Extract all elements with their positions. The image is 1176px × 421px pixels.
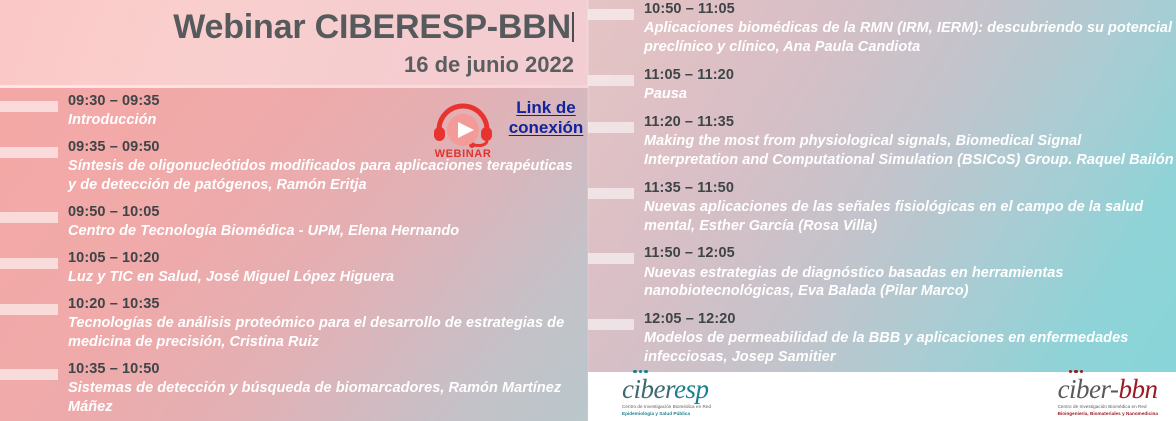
agenda-item-body: 09:35 – 09:50Síntesis de oligonucleótido…	[58, 138, 580, 195]
agenda-item-time: 09:30 – 09:35	[68, 92, 580, 110]
agenda-bullet-marker	[588, 75, 634, 86]
logo-ciber-bbn-sub1: Centro de Investigación Biomédica en Red	[1058, 404, 1158, 411]
agenda-item-description: Pausa	[644, 85, 1176, 104]
logo-ciberesp-wordmark: ciberesp	[622, 376, 708, 403]
event-date: 16 de junio 2022	[404, 52, 574, 78]
agenda-item: 10:50 – 11:05Aplicaciones biomédicas de …	[588, 0, 1176, 57]
agenda-item-time: 11:35 – 11:50	[644, 179, 1176, 197]
agenda-item-description: Centro de Tecnología Biomédica - UPM, El…	[68, 222, 580, 241]
agenda-item-time: 11:20 – 11:35	[644, 113, 1176, 131]
agenda-bullet-marker	[0, 147, 58, 158]
agenda-item-body: 11:50 – 12:05Nuevas estrategias de diagn…	[634, 244, 1176, 301]
webinar-poster: Webinar CIBERESP-BBN 16 de junio 2022 WE…	[0, 0, 1176, 421]
agenda-list-right: 10:50 – 11:05Aplicaciones biomédicas de …	[588, 0, 1176, 372]
agenda-item-body: 12:05 – 12:20Modelos de permeabilidad de…	[634, 310, 1176, 367]
agenda-item-time: 09:50 – 10:05	[68, 203, 580, 221]
agenda-item: 10:05 – 10:20Luz y TIC en Salud, José Mi…	[0, 249, 580, 287]
agenda-item-body: 10:50 – 11:05Aplicaciones biomédicas de …	[634, 0, 1176, 57]
logo-ciber-bbn-sub2: Bioingeniería, Biomateriales y Nanomedic…	[1058, 411, 1158, 418]
agenda-item-body: 11:35 – 11:50Nuevas aplicaciones de las …	[634, 179, 1176, 236]
agenda-item: 09:30 – 09:35Introducción	[0, 92, 580, 130]
logo-ciber-bbn-subtitle: Centro de Investigación Biomédica en Red…	[1058, 404, 1158, 418]
page-title-text: Webinar CIBERESP-BBN	[173, 8, 571, 46]
agenda-item-time: 11:50 – 12:05	[644, 244, 1176, 262]
logo-dots-icon	[633, 370, 648, 374]
agenda-item: 10:20 – 10:35Tecnologías de análisis pro…	[0, 295, 580, 352]
logo-ciberesp-part2: esp	[674, 374, 709, 404]
agenda-bullet-marker	[0, 101, 58, 112]
poster-header: Webinar CIBERESP-BBN 16 de junio 2022	[0, 0, 588, 88]
logo-ciberesp-sub1: Centro de Investigación Biomédica en Red	[622, 404, 711, 411]
footer-logos: ciberesp Centro de Investigación Biomédi…	[588, 372, 1176, 421]
agenda-item-time: 10:50 – 11:05	[644, 0, 1176, 18]
logo-ciberesp-part1: ciber	[622, 374, 674, 404]
agenda-item: 09:35 – 09:50Síntesis de oligonucleótido…	[0, 138, 580, 195]
logo-ciberesp-sub2: Epidemiología y Salud Pública	[622, 411, 711, 418]
logo-ciberesp-subtitle: Centro de Investigación Biomédica en Red…	[622, 404, 711, 418]
agenda-item-description: Luz y TIC en Salud, José Miguel López Hi…	[68, 268, 580, 287]
agenda-item-description: Aplicaciones biomédicas de la RMN (IRM, …	[644, 19, 1176, 57]
agenda-bullet-marker	[588, 253, 634, 264]
agenda-item-time: 11:05 – 11:20	[644, 66, 1176, 84]
agenda-item-body: 11:05 – 11:20Pausa	[634, 66, 1176, 104]
agenda-item-description: Tecnologías de análisis proteómico para …	[68, 314, 580, 352]
logo-ciber-bbn: ciber-bbn Centro de Investigación Bioméd…	[1058, 376, 1158, 418]
agenda-item-time: 10:20 – 10:35	[68, 295, 580, 313]
agenda-item-description: Nuevas estrategias de diagnóstico basada…	[644, 264, 1176, 302]
agenda-bullet-marker	[588, 9, 634, 20]
agenda-item: 11:50 – 12:05Nuevas estrategias de diagn…	[588, 244, 1176, 301]
agenda-item-description: Making the most from physiological signa…	[644, 132, 1176, 170]
logo-ciberesp: ciberesp Centro de Investigación Biomédi…	[622, 376, 711, 418]
agenda-item: 11:35 – 11:50Nuevas aplicaciones de las …	[588, 179, 1176, 236]
agenda-item: 11:05 – 11:20Pausa	[588, 66, 1176, 104]
agenda-item-description: Modelos de permeabilidad de la BBB y apl…	[644, 329, 1176, 367]
agenda-item-body: 10:35 – 10:50Sistemas de detección y bús…	[58, 360, 580, 417]
agenda-item-time: 10:35 – 10:50	[68, 360, 580, 378]
agenda-bullet-marker	[0, 258, 58, 269]
agenda-bullet-marker	[0, 212, 58, 223]
page-title: Webinar CIBERESP-BBN	[173, 10, 574, 46]
agenda-item: 11:20 – 11:35Making the most from physio…	[588, 113, 1176, 170]
agenda-item-time: 10:05 – 10:20	[68, 249, 580, 267]
agenda-list-left: 09:30 – 09:35Introducción09:35 – 09:50Sí…	[0, 92, 588, 421]
agenda-item-body: 11:20 – 11:35Making the most from physio…	[634, 113, 1176, 170]
agenda-bullet-marker	[588, 122, 634, 133]
agenda-item: 12:05 – 12:20Modelos de permeabilidad de…	[588, 310, 1176, 367]
logo-ciber-bbn-wordmark: ciber-bbn	[1058, 376, 1158, 403]
text-cursor	[572, 12, 574, 42]
agenda-item-description: Nuevas aplicaciones de las señales fisio…	[644, 198, 1176, 236]
agenda-bullet-marker	[588, 188, 634, 199]
logo-ciber-bbn-part1: ciber-	[1058, 374, 1119, 404]
agenda-item-body: 09:30 – 09:35Introducción	[58, 92, 580, 130]
agenda-item-description: Introducción	[68, 111, 580, 130]
agenda-item: 09:50 – 10:05Centro de Tecnología Bioméd…	[0, 203, 580, 241]
agenda-item-time: 09:35 – 09:50	[68, 138, 580, 156]
agenda-item: 10:35 – 10:50Sistemas de detección y bús…	[0, 360, 580, 417]
agenda-bullet-marker	[588, 319, 634, 330]
logo-ciber-bbn-part2: bbn	[1119, 374, 1158, 404]
logo-dots-icon	[1069, 370, 1084, 374]
agenda-item-body: 10:05 – 10:20Luz y TIC en Salud, José Mi…	[58, 249, 580, 287]
agenda-item-body: 09:50 – 10:05Centro de Tecnología Bioméd…	[58, 203, 580, 241]
agenda-item-time: 12:05 – 12:20	[644, 310, 1176, 328]
agenda-bullet-marker	[0, 304, 58, 315]
agenda-item-description: Sistemas de detección y búsqueda de biom…	[68, 379, 580, 417]
agenda-bullet-marker	[0, 369, 58, 380]
agenda-item-description: Síntesis de oligonucleótidos modificados…	[68, 157, 580, 195]
agenda-item-body: 10:20 – 10:35Tecnologías de análisis pro…	[58, 295, 580, 352]
